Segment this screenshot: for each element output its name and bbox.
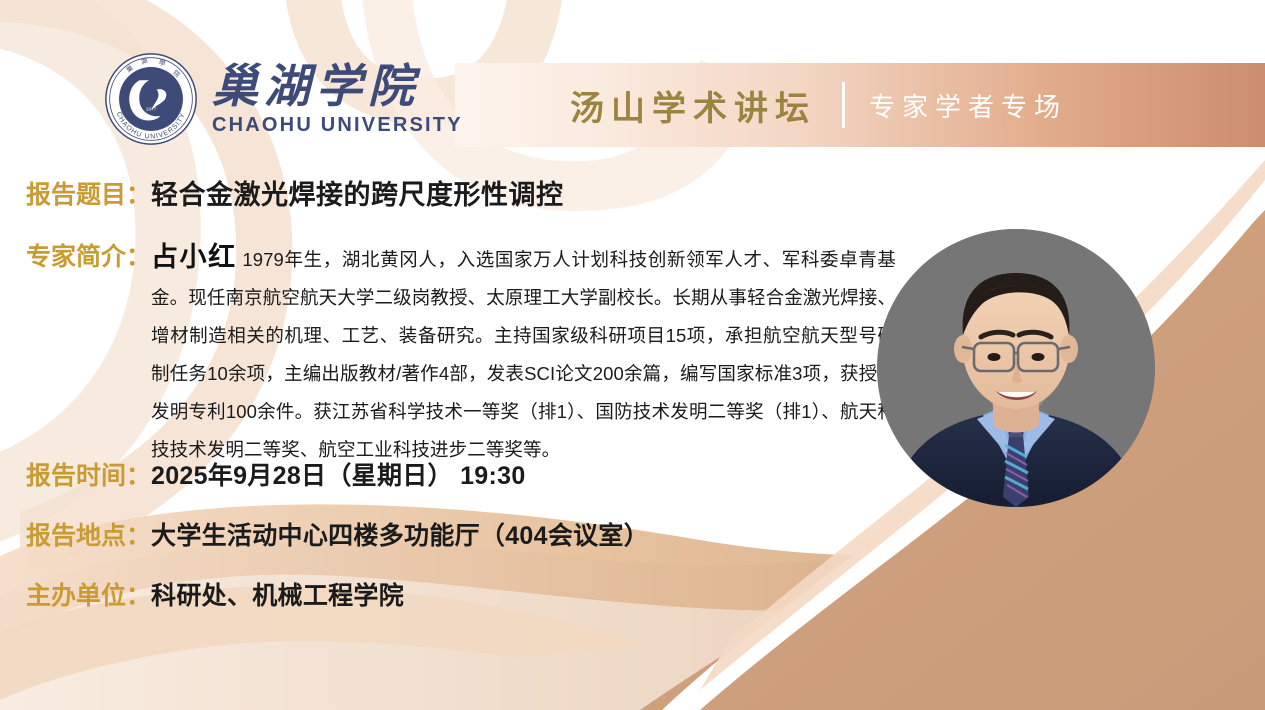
university-seal-icon: 1977 巢 湖 學 院 CHAOHU UNIVERSITY — [104, 52, 198, 146]
banner-title: 汤山学术讲坛 — [570, 81, 816, 130]
report-title-row: 报告题目： 轻合金激光焊接的跨尺度形性调控 — [26, 178, 906, 212]
poster-header: 汤山学术讲坛 专家学者专场 1977 巢 湖 學 — [0, 0, 1265, 160]
report-time-value: 2025年9月28日（星期日） 19:30 — [151, 458, 526, 494]
report-host-label: 主办单位： — [26, 578, 151, 614]
report-title-value: 轻合金激光焊接的跨尺度形性调控 — [151, 178, 564, 212]
svg-text:1977: 1977 — [146, 106, 157, 111]
speaker-bio-text: 1979年生，湖北黄冈人，入选国家万人计划科技创新领军人才、军科委卓青基金。现任… — [151, 249, 896, 460]
banner-divider — [842, 82, 845, 128]
speaker-bio-label: 专家简介： — [26, 238, 151, 276]
banner-subtitle: 专家学者专场 — [869, 87, 1067, 124]
report-place-label: 报告地点： — [26, 518, 151, 554]
wordmark-english: CHAOHU UNIVERSITY — [212, 114, 463, 137]
speaker-bio-body: 占小红 1979年生，湖北黄冈人，入选国家万人计划科技创新领军人才、军科委卓青基… — [151, 238, 896, 469]
report-time-row: 报告时间： 2025年9月28日（星期日） 19:30 — [26, 458, 526, 494]
university-wordmark: 巢湖学院 CHAOHU UNIVERSITY — [212, 61, 463, 137]
report-place-row: 报告地点： 大学生活动中心四楼多功能厅（404会议室） — [26, 518, 649, 554]
speaker-bio-row: 专家简介： 占小红 1979年生，湖北黄冈人，入选国家万人计划科技创新领军人才、… — [26, 238, 896, 469]
university-logo: 1977 巢 湖 學 院 CHAOHU UNIVERSITY — [104, 52, 463, 146]
wordmark-chinese: 巢湖学院 — [212, 63, 463, 111]
report-place-value: 大学生活动中心四楼多功能厅（404会议室） — [151, 518, 649, 554]
poster-canvas: 汤山学术讲坛 专家学者专场 1977 巢 湖 學 — [0, 0, 1265, 710]
report-time-label: 报告时间： — [26, 458, 151, 494]
report-title-label: 报告题目： — [26, 178, 151, 212]
speaker-portrait — [877, 229, 1155, 507]
report-host-value: 科研处、机械工程学院 — [151, 578, 404, 614]
speaker-name: 占小红 — [151, 242, 237, 272]
report-host-row: 主办单位： 科研处、机械工程学院 — [26, 578, 404, 614]
event-banner: 汤山学术讲坛 专家学者专场 — [455, 63, 1265, 147]
